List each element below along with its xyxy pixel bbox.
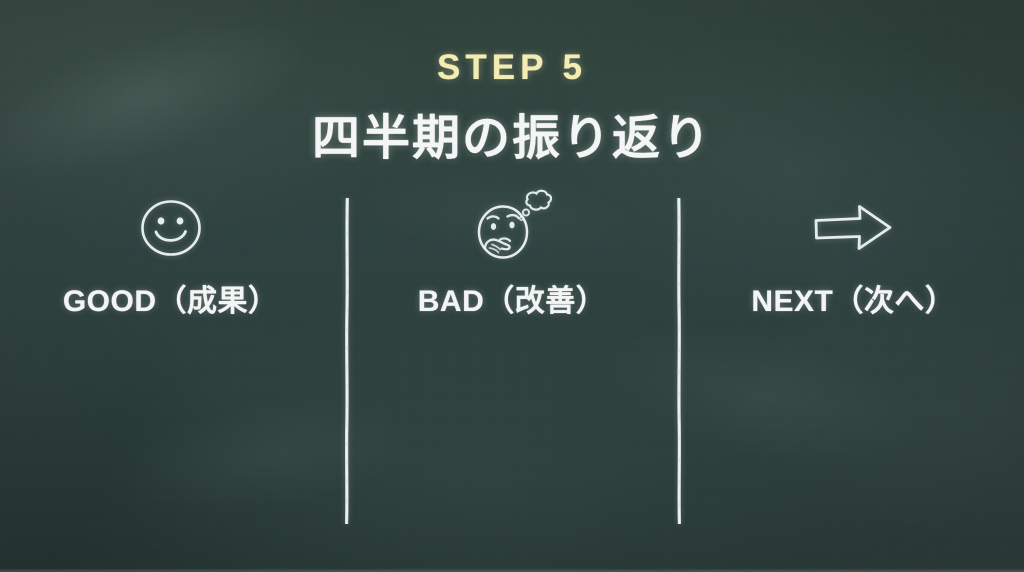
- step-label: STEP 5: [0, 48, 1024, 88]
- smiley-face-icon: [135, 186, 207, 270]
- column-label-next: NEXT（次へ）: [751, 276, 955, 320]
- column-label-bad: BAD（改善）: [418, 276, 607, 320]
- column-bad: BAD（改善）: [341, 186, 682, 326]
- page-title: 四半期の振り返り: [0, 98, 1024, 168]
- retrospective-columns: GOOD（成果）: [0, 186, 1024, 326]
- thinking-face-icon: [470, 186, 554, 270]
- chalkboard-slide: STEP 5 四半期の振り返り GOOD（成果）: [0, 0, 1024, 572]
- column-good: GOOD（成果）: [0, 186, 341, 326]
- right-arrow-icon: [810, 186, 896, 270]
- chalk-smudge: [114, 380, 426, 531]
- column-next: NEXT（次へ）: [683, 186, 1024, 326]
- column-label-good: GOOD（成果）: [63, 276, 279, 320]
- chalk-smudge: [590, 297, 940, 493]
